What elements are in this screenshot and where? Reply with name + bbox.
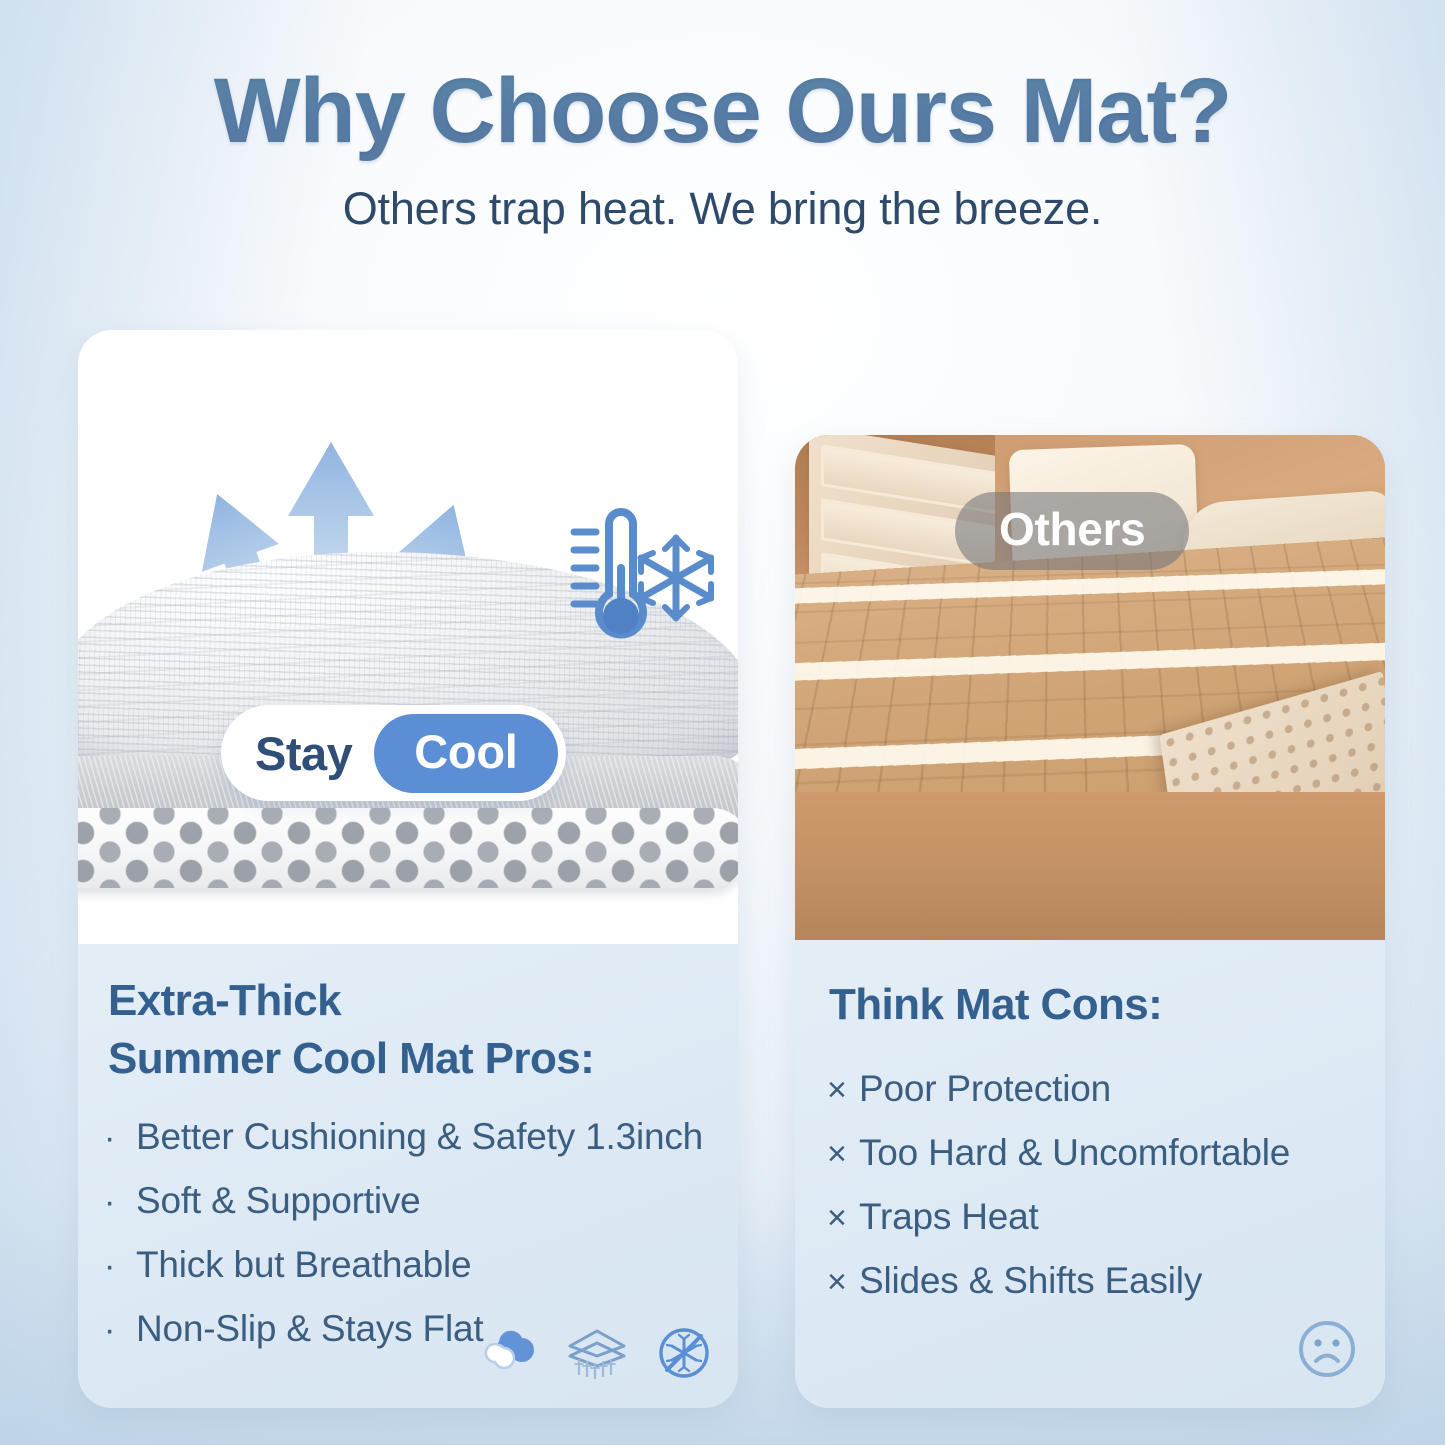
ours-mat-heading-line2: Summer Cool Mat Pros: <box>108 1034 594 1083</box>
others-badge: Others <box>955 492 1189 570</box>
others-mat-text-panel: Think Mat Cons: × Poor Protection × Too … <box>795 940 1385 1408</box>
mattress-base <box>795 792 1385 942</box>
list-item-label: Thick but Breathable <box>136 1244 471 1286</box>
ours-mat-text-panel: Extra-Thick Summer Cool Mat Pros: · Bett… <box>78 944 738 1408</box>
ours-mat-heading: Extra-Thick Summer Cool Mat Pros: <box>78 944 738 1088</box>
list-item-label: Too Hard & Uncomfortable <box>859 1132 1290 1174</box>
list-item-label: Non-Slip & Stays Flat <box>136 1308 483 1350</box>
list-item: · Better Cushioning & Safety 1.3inch <box>104 1116 738 1158</box>
list-item-label: Slides & Shifts Easily <box>859 1260 1202 1302</box>
thermometer-snowflake-icon <box>554 506 714 661</box>
list-item-label: Traps Heat <box>859 1196 1039 1238</box>
list-item: × Slides & Shifts Easily <box>827 1260 1385 1302</box>
cross-bullet-icon: × <box>827 1135 847 1174</box>
list-item-label: Soft & Supportive <box>136 1180 421 1222</box>
cross-bullet-icon: × <box>827 1199 847 1238</box>
others-mat-photo: Others <box>795 435 1385 942</box>
cross-bullet-icon: × <box>827 1071 847 1110</box>
list-item-label: Better Cushioning & Safety 1.3inch <box>136 1116 703 1158</box>
cool-label: Cool <box>374 714 557 793</box>
header: Why Choose Ours Mat? Others trap heat. W… <box>0 62 1445 235</box>
anti-bacterial-icon <box>656 1325 712 1386</box>
breathable-layers-icon <box>566 1326 628 1385</box>
ours-mat-heading-line1: Extra-Thick <box>108 976 341 1025</box>
others-mat-heading: Think Mat Cons: <box>795 940 1385 1034</box>
others-mat-card: Others Think Mat Cons: × Poor Protection… <box>795 435 1385 1408</box>
list-item: × Too Hard & Uncomfortable <box>827 1132 1385 1174</box>
list-item: · Soft & Supportive <box>104 1180 738 1222</box>
list-item: × Traps Heat <box>827 1196 1385 1238</box>
cons-list: × Poor Protection × Too Hard & Uncomfort… <box>827 1068 1385 1302</box>
sad-face-icon <box>1295 1317 1359 1386</box>
stay-cool-badge: Stay Cool <box>221 705 566 801</box>
list-item: × Poor Protection <box>827 1068 1385 1110</box>
mat-perforated-foam-layer <box>78 808 738 888</box>
stay-label: Stay <box>255 726 352 781</box>
page-title: Why Choose Ours Mat? <box>0 62 1445 161</box>
ours-mat-card: Stay Cool Extra-Thick Summer Cool Mat Pr… <box>78 330 738 1408</box>
cloud-soft-icon <box>480 1328 538 1383</box>
list-item-label: Poor Protection <box>859 1068 1111 1110</box>
dot-bullet-icon: · <box>104 1247 124 1286</box>
pros-list: · Better Cushioning & Safety 1.3inch · S… <box>104 1116 738 1350</box>
page-subtitle: Others trap heat. We bring the breeze. <box>0 183 1445 235</box>
dot-bullet-icon: · <box>104 1183 124 1222</box>
benefit-icon-row <box>480 1325 712 1386</box>
dot-bullet-icon: · <box>104 1311 124 1350</box>
product-image-stage: Stay Cool <box>78 330 738 946</box>
cross-bullet-icon: × <box>827 1263 847 1302</box>
list-item: · Thick but Breathable <box>104 1244 738 1286</box>
dot-bullet-icon: · <box>104 1119 124 1158</box>
